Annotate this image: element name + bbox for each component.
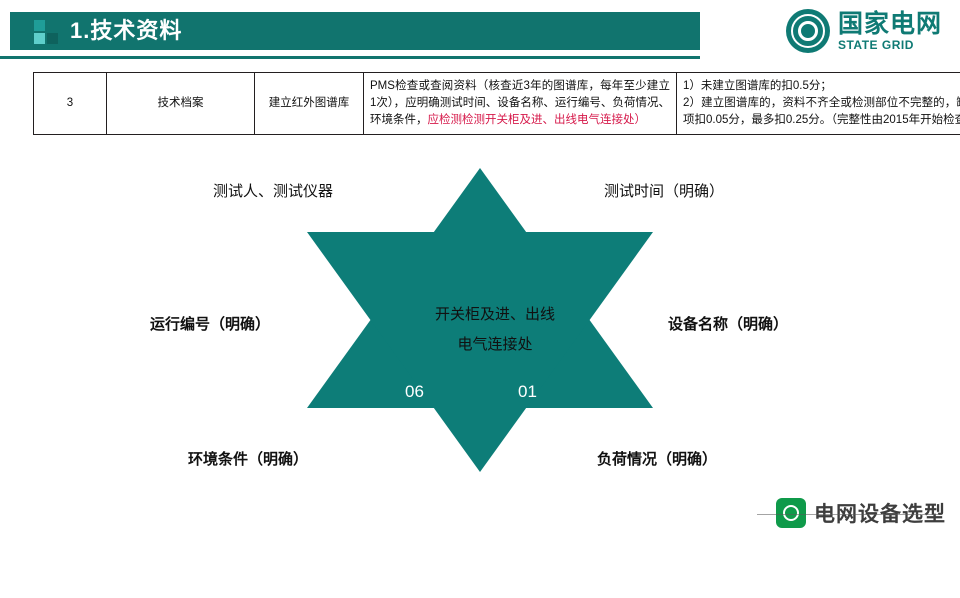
center-text-line2: 电气连接处 [400, 330, 590, 360]
watermark: 电网设备选型 [776, 498, 946, 528]
table-row: 3 技术档案 建立红外图谱库 PMS检查或查阅资料（核查近3年的图谱库，每年至少… [34, 73, 960, 135]
state-grid-logo: 国家电网 STATE GRID [786, 8, 942, 54]
star-label-02: 设备名称（明确） [668, 313, 788, 334]
logo-text-cn: 国家电网 [838, 12, 942, 37]
star-label-04: 环境条件（明确） [188, 448, 308, 469]
star-center-label: 开关柜及进、出线 电气连接处 [400, 300, 590, 360]
star-point-num-01: 01 [518, 382, 537, 402]
header-left-accent [0, 12, 10, 50]
wechat-badge-icon [776, 498, 806, 528]
star-point-num-05: 05 [345, 480, 364, 500]
star-point-num-06: 06 [405, 382, 424, 402]
star-point-num-03: 03 [518, 578, 537, 598]
watermark-strike [757, 514, 942, 515]
cell-index: 3 [34, 73, 107, 135]
cell-item: 建立红外图谱库 [255, 73, 364, 135]
scoring-text: 1）未建立图谱库的扣0.5分； 2）建立图谱库的，资料不齐全或检测部位不完整的，… [683, 80, 960, 126]
header-squares-icon [34, 20, 58, 44]
watermark-text: 电网设备选型 [814, 498, 946, 528]
cell-scoring: 1）未建立图谱库的扣0.5分； 2）建立图谱库的，资料不齐全或检测部位不完整的，… [677, 73, 960, 135]
star-label-01: 测试时间（明确） [604, 180, 724, 201]
logo-text-en: STATE GRID [838, 39, 942, 51]
spec-table: 3 技术档案 建立红外图谱库 PMS检查或查阅资料（核查近3年的图谱库，每年至少… [33, 72, 960, 135]
page-header: 1.技术资料 国家电网 STATE GRID [0, 0, 960, 62]
star-label-05: 运行编号（明确） [150, 313, 270, 334]
page-title: 1.技术资料 [70, 17, 182, 45]
requirement-highlight: 应检测检测开关柜及进、出线电气连接处） [428, 114, 647, 126]
header-underline [0, 56, 700, 59]
cell-requirement: PMS检查或查阅资料（核查近3年的图谱库，每年至少建立1次），应明确测试时间、设… [364, 73, 677, 135]
logo-text: 国家电网 STATE GRID [838, 12, 942, 51]
star-label-06: 测试人、测试仪器 [213, 180, 333, 201]
spec-table-container: 3 技术档案 建立红外图谱库 PMS检查或查阅资料（核查近3年的图谱库，每年至少… [33, 72, 929, 135]
star-point-num-04: 04 [405, 578, 424, 598]
star-label-03: 负荷情况（明确） [597, 448, 717, 469]
star-diagram: 06 01 05 02 04 03 开关柜及进、出线 电气连接处 测试人、测试仪… [0, 160, 960, 490]
center-text-line1: 开关柜及进、出线 [400, 300, 590, 330]
state-grid-logo-icon [786, 9, 830, 53]
cell-category: 技术档案 [107, 73, 255, 135]
star-point-num-02: 02 [578, 480, 597, 500]
